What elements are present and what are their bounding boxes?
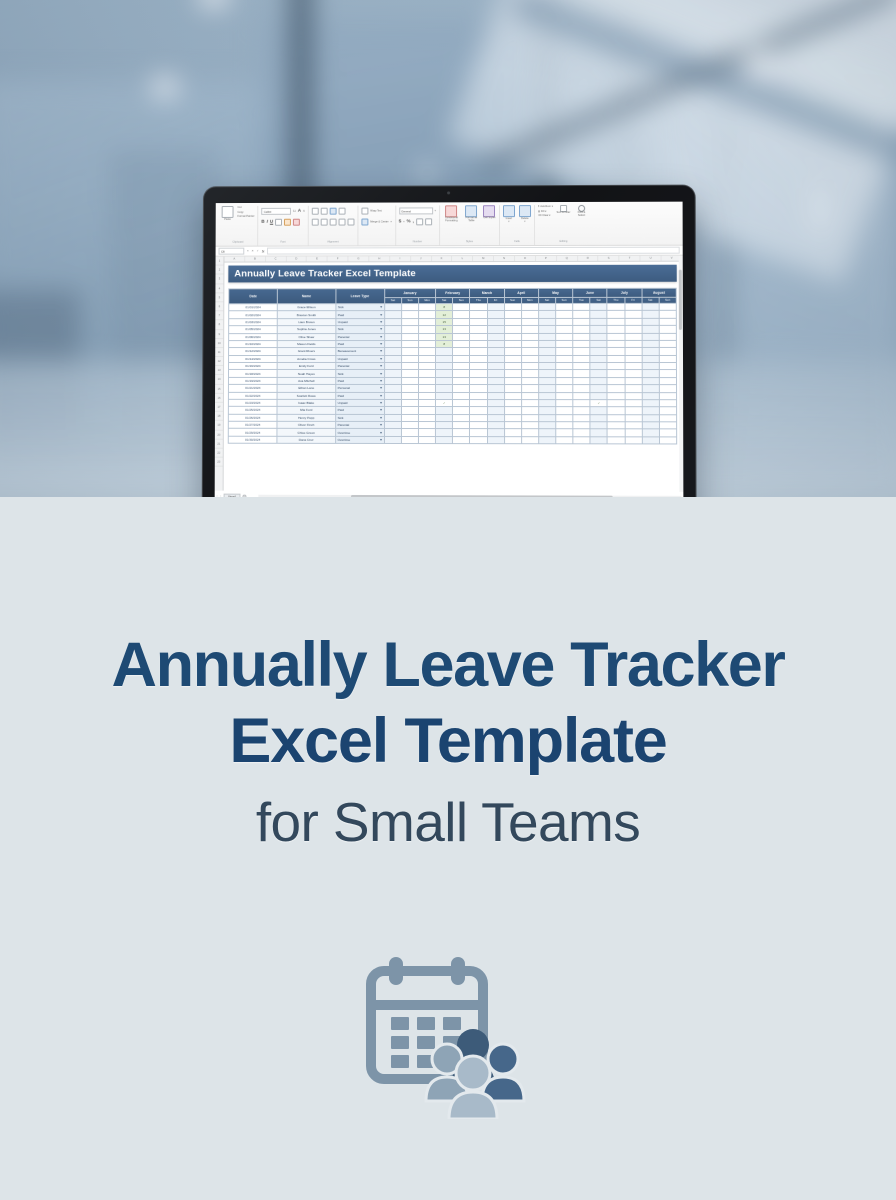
cell-day[interactable] [590, 355, 607, 362]
cell-day[interactable] [521, 399, 538, 406]
cell-day[interactable] [504, 355, 521, 362]
row-header-cell[interactable]: 13 [215, 366, 223, 375]
cell-day[interactable] [625, 355, 642, 362]
table-row[interactable]: 01/16/2024Emily FordParental [229, 362, 677, 369]
cell-day[interactable] [401, 326, 418, 333]
cell-day[interactable] [607, 414, 624, 421]
cell-day[interactable] [504, 392, 521, 399]
cell-leave-type[interactable]: Overtime [335, 436, 384, 443]
cell-day[interactable] [453, 326, 470, 333]
cell-day[interactable] [607, 326, 624, 333]
cell-day[interactable] [470, 304, 487, 311]
cell-day[interactable] [625, 429, 642, 436]
cell-leave-type[interactable]: Parental [335, 362, 384, 369]
cell-day[interactable] [487, 363, 504, 370]
cell-day[interactable] [521, 429, 538, 436]
cell-day[interactable] [453, 355, 470, 362]
cell-day[interactable] [556, 414, 573, 421]
cell-date[interactable]: 01/16/2024 [229, 362, 278, 369]
cell-day[interactable] [590, 407, 607, 414]
cell-name[interactable]: Chloe Green [277, 429, 335, 436]
column-header-cell[interactable]: R [578, 256, 599, 261]
cell-day[interactable] [487, 414, 504, 421]
cell-day[interactable] [556, 355, 573, 362]
cell-day[interactable] [590, 303, 607, 310]
cell-day[interactable] [556, 407, 573, 414]
cell-day[interactable] [470, 429, 487, 436]
cell-day[interactable] [487, 355, 504, 362]
align-center-icon[interactable] [321, 219, 328, 226]
cell-day[interactable] [590, 363, 607, 370]
cell-day[interactable] [384, 348, 401, 355]
middle-align-icon[interactable] [321, 208, 328, 215]
column-header-cell[interactable]: O [515, 256, 536, 261]
cell-day[interactable] [659, 385, 676, 392]
cell-day[interactable] [384, 392, 401, 399]
cell-day[interactable] [556, 399, 573, 406]
cell-day[interactable] [659, 311, 676, 318]
cell-day[interactable] [504, 407, 521, 414]
cell-leave-type[interactable]: Paid [335, 340, 384, 347]
insert-function-icon[interactable]: fx [262, 249, 265, 253]
cell-day[interactable] [521, 377, 538, 384]
cell-day[interactable] [401, 362, 418, 369]
cell-day[interactable] [607, 348, 624, 355]
cell-day[interactable] [556, 318, 573, 325]
cell-day[interactable] [504, 436, 521, 443]
cell-day[interactable] [590, 377, 607, 384]
cell-day[interactable] [504, 303, 521, 310]
cell-day[interactable] [401, 377, 418, 384]
cell-day[interactable] [642, 363, 659, 370]
cell-day[interactable] [642, 326, 659, 333]
cell-day[interactable] [590, 370, 607, 377]
cell-day[interactable] [487, 318, 504, 325]
cell-leave-type[interactable]: Sick [335, 370, 384, 377]
cell-day[interactable] [419, 362, 436, 369]
cell-name[interactable]: Dana Cruz [277, 436, 335, 443]
cell-day[interactable] [436, 422, 453, 429]
cell-day[interactable] [573, 311, 590, 318]
cell-date[interactable]: 01/06/2024 [229, 333, 278, 340]
row-header-cell[interactable]: 21 [215, 439, 223, 448]
comma-format-icon[interactable]: , [413, 220, 414, 225]
dropdown-arrow-icon[interactable] [380, 343, 382, 345]
column-header-cell[interactable]: F [328, 256, 349, 261]
cell-day[interactable] [453, 318, 470, 325]
cell-day[interactable] [607, 318, 624, 325]
dropdown-arrow-icon[interactable] [380, 328, 382, 330]
cell-day[interactable] [470, 385, 487, 392]
cell-date[interactable]: 01/25/2024 [228, 407, 277, 414]
cell-day[interactable] [539, 429, 556, 436]
cell-day[interactable] [556, 326, 573, 333]
cell-day[interactable] [607, 311, 624, 318]
cell-leave-value[interactable]: 15 [436, 318, 453, 325]
cell-day[interactable] [659, 370, 676, 377]
cell-date[interactable]: 01/18/2024 [228, 370, 277, 377]
cell-day[interactable] [539, 385, 556, 392]
cell-day[interactable] [642, 355, 659, 362]
cell-day[interactable] [607, 392, 624, 399]
cell-leave-value[interactable]: ✓ [590, 400, 607, 407]
row-header-cell[interactable]: 6 [215, 302, 223, 311]
dropdown-arrow-icon[interactable] [380, 387, 382, 389]
cell-day[interactable] [401, 421, 418, 428]
cell-day[interactable] [624, 303, 641, 310]
cell-name[interactable]: Mia Ford [277, 407, 335, 414]
excel-ribbon[interactable]: Paste Cut Copy Format Painter Clipboard [216, 202, 683, 247]
cell-day[interactable] [659, 348, 676, 355]
row-header-cell[interactable]: 5 [215, 293, 223, 302]
cell-day[interactable] [642, 437, 659, 444]
cell-day[interactable] [504, 385, 521, 392]
cell-day[interactable] [556, 377, 573, 384]
cell-day[interactable] [401, 311, 418, 318]
fill-color-icon[interactable] [284, 219, 291, 226]
cell-day[interactable] [487, 385, 504, 392]
cell-leave-type[interactable]: Paid [335, 377, 384, 384]
cell-day[interactable] [487, 392, 504, 399]
increase-font-icon[interactable]: A [298, 209, 301, 214]
column-header-cell[interactable]: C [266, 256, 287, 261]
cell-leave-value[interactable]: 13 [436, 333, 453, 340]
cell-day[interactable] [556, 370, 573, 377]
cell-day[interactable] [539, 370, 556, 377]
cell-day[interactable] [659, 392, 676, 399]
cell-day[interactable] [521, 363, 538, 370]
cell-day[interactable] [521, 414, 538, 421]
cell-day[interactable] [401, 385, 418, 392]
dropdown-arrow-icon[interactable] [380, 409, 382, 411]
cell-day[interactable] [384, 436, 401, 443]
cell-day[interactable] [659, 422, 676, 429]
dropdown-arrow-icon[interactable] [380, 432, 382, 434]
cell-day[interactable] [625, 400, 642, 407]
cell-day[interactable] [659, 355, 676, 362]
row-header-cell[interactable]: 4 [215, 284, 223, 293]
cell-day[interactable] [642, 392, 659, 399]
cell-day[interactable] [384, 385, 401, 392]
cell-leave-value[interactable]: 12 [436, 311, 453, 318]
cell-day[interactable] [539, 363, 556, 370]
cell-day[interactable] [453, 340, 470, 347]
cell-leave-type[interactable]: Paid [335, 407, 384, 414]
cell-day[interactable] [419, 304, 436, 311]
cell-day[interactable] [470, 318, 487, 325]
cell-day[interactable] [539, 392, 556, 399]
cell-day[interactable] [539, 348, 556, 355]
cell-leave-type[interactable]: Unpaid [335, 399, 384, 406]
cell-day[interactable] [453, 407, 470, 414]
cell-day[interactable] [625, 340, 642, 347]
column-header-cell[interactable]: S [599, 256, 620, 261]
cell-date[interactable]: 01/26/2024 [228, 414, 277, 421]
cell-day[interactable] [401, 399, 418, 406]
cell-day[interactable] [418, 422, 435, 429]
cell-day[interactable] [401, 414, 418, 421]
cell-day[interactable] [556, 422, 573, 429]
cell-day[interactable] [521, 340, 538, 347]
cell-day[interactable] [539, 377, 556, 384]
cell-day[interactable] [556, 333, 573, 340]
cell-name[interactable]: Amelia Cross [277, 355, 335, 362]
cell-day[interactable] [659, 414, 676, 421]
cell-day[interactable] [487, 348, 504, 355]
cell-day[interactable] [470, 326, 487, 333]
cell-day[interactable] [487, 399, 504, 406]
cell-day[interactable] [573, 333, 590, 340]
dropdown-arrow-icon[interactable] [380, 395, 382, 397]
cell-leave-type[interactable]: Sick [335, 414, 384, 421]
cell-day[interactable] [607, 422, 624, 429]
cell-day[interactable] [384, 377, 401, 384]
dropdown-arrow-icon[interactable] [380, 439, 382, 441]
cell-day[interactable] [590, 348, 607, 355]
cell-day[interactable] [556, 303, 573, 310]
borders-icon[interactable] [275, 219, 282, 226]
cell-day[interactable] [642, 370, 659, 377]
cell-day[interactable] [384, 399, 401, 406]
cell-day[interactable] [625, 385, 642, 392]
cell-name[interactable]: Isaac Blake [277, 399, 335, 406]
autosum-label[interactable]: Σ AutoSum ▾ [538, 205, 553, 208]
cell-day[interactable] [539, 355, 556, 362]
cell-day[interactable] [642, 340, 659, 347]
cell-day[interactable] [642, 348, 659, 355]
copy-label[interactable]: Copy [237, 210, 254, 213]
insert-cells-icon[interactable] [503, 205, 515, 217]
cell-date[interactable]: 01/19/2024 [228, 377, 277, 384]
merge-center-icon[interactable] [361, 219, 368, 226]
orientation-icon[interactable] [339, 208, 346, 215]
cell-day[interactable] [659, 437, 676, 444]
cell-name[interactable]: Noah Hayes [277, 370, 335, 377]
italic-icon[interactable]: I [267, 220, 268, 225]
cell-day[interactable] [436, 436, 453, 443]
font-size-value[interactable]: 11 [293, 210, 296, 213]
cell-day[interactable] [384, 355, 401, 362]
column-header-cell[interactable]: J [411, 256, 432, 261]
decrease-indent-icon[interactable] [338, 219, 345, 226]
cell-day[interactable] [436, 414, 453, 421]
column-header-cell[interactable]: N [494, 256, 515, 261]
cell-day[interactable] [384, 304, 401, 311]
cell-day[interactable] [504, 318, 521, 325]
accounting-format-icon[interactable]: $ [399, 220, 402, 225]
cell-day[interactable] [521, 370, 538, 377]
cell-day[interactable] [521, 318, 538, 325]
cell-date[interactable]: 01/30/2024 [228, 436, 277, 443]
cell-day[interactable] [556, 429, 573, 436]
cell-day[interactable] [573, 377, 590, 384]
cell-day[interactable] [556, 311, 573, 318]
decrease-decimal-icon[interactable] [425, 218, 432, 225]
cell-day[interactable] [504, 422, 521, 429]
cell-day[interactable] [419, 392, 436, 399]
cell-day[interactable] [625, 407, 642, 414]
cell-day[interactable] [470, 340, 487, 347]
cell-day[interactable] [487, 311, 504, 318]
cell-day[interactable] [470, 399, 487, 406]
cell-name[interactable]: Grant Rivers [277, 348, 335, 355]
number-format-select[interactable]: General [399, 207, 433, 214]
cell-day[interactable] [539, 422, 556, 429]
cell-day[interactable] [418, 414, 435, 421]
cell-day[interactable] [504, 399, 521, 406]
cell-name[interactable]: Ava Mitchell [277, 377, 335, 384]
row-header-cell[interactable]: 19 [215, 421, 223, 430]
cell-day[interactable] [607, 333, 624, 340]
row-header-cell[interactable]: 23 [215, 458, 223, 467]
paste-icon[interactable] [222, 206, 234, 218]
cell-day[interactable] [625, 370, 642, 377]
increase-decimal-icon[interactable] [416, 218, 423, 225]
cell-name[interactable]: Olive Shaw [277, 333, 335, 340]
row-header-cell[interactable]: 16 [215, 394, 223, 403]
cell-day[interactable] [436, 362, 453, 369]
cell-day[interactable] [487, 326, 504, 333]
table-row[interactable]: 01/12/2024Grant RiversBereavement [229, 348, 677, 355]
cell-day[interactable] [419, 333, 436, 340]
row-header-cell[interactable]: 12 [215, 357, 223, 366]
cell-name[interactable]: Ethan Lane [277, 385, 335, 392]
cell-day[interactable] [590, 311, 607, 318]
cell-day[interactable] [436, 429, 453, 436]
dropdown-arrow-icon[interactable] [380, 350, 382, 352]
cell-leave-type[interactable]: Paid [335, 311, 384, 318]
row-header-cell[interactable]: 1 [216, 257, 224, 266]
cell-day[interactable] [642, 422, 659, 429]
cell-day[interactable] [504, 429, 521, 436]
cell-day[interactable] [538, 318, 555, 325]
cell-day[interactable] [436, 377, 453, 384]
cell-day[interactable] [453, 414, 470, 421]
formula-input[interactable] [267, 247, 679, 255]
dropdown-arrow-icon[interactable] [380, 306, 382, 308]
bold-icon[interactable]: B [261, 220, 264, 225]
cell-day[interactable] [539, 399, 556, 406]
cell-day[interactable] [470, 414, 487, 421]
delete-cells-icon[interactable] [519, 205, 531, 217]
cell-day[interactable] [418, 429, 435, 436]
cell-day[interactable] [538, 303, 555, 310]
cell-day[interactable] [504, 326, 521, 333]
column-header-cell[interactable]: I [390, 256, 411, 261]
cell-day[interactable] [573, 355, 590, 362]
cell-day[interactable] [419, 385, 436, 392]
cell-day[interactable] [401, 355, 418, 362]
cell-date[interactable]: 01/27/2024 [228, 421, 277, 428]
cell-day[interactable] [504, 348, 521, 355]
cell-day[interactable] [470, 355, 487, 362]
cell-day[interactable] [590, 340, 607, 347]
align-left-icon[interactable] [312, 219, 319, 226]
cell-date[interactable]: 01/12/2024 [229, 348, 278, 355]
cell-day[interactable] [504, 340, 521, 347]
cell-day[interactable] [453, 436, 470, 443]
row-header-cell[interactable]: 10 [215, 339, 223, 348]
cell-day[interactable] [625, 414, 642, 421]
cell-day[interactable] [573, 348, 590, 355]
cell-day[interactable] [418, 399, 435, 406]
cell-name[interactable]: Mason Fields [277, 340, 335, 347]
number-format-chevron-down-icon[interactable]: ▾ [435, 209, 436, 212]
cell-day[interactable] [642, 414, 659, 421]
cell-day[interactable] [659, 407, 676, 414]
top-align-icon[interactable] [312, 208, 319, 215]
cell-leave-type[interactable]: Paid [335, 392, 384, 399]
cell-day[interactable] [573, 385, 590, 392]
cell-day[interactable] [453, 362, 470, 369]
cell-day[interactable] [625, 422, 642, 429]
row-header-cell[interactable]: 8 [215, 321, 223, 330]
cell-day[interactable] [659, 377, 676, 384]
cell-day[interactable] [419, 348, 436, 355]
cell-day[interactable] [556, 363, 573, 370]
cell-day[interactable] [419, 377, 436, 384]
delete-chevron-down-icon[interactable]: ▾ [524, 220, 525, 223]
font-name-input[interactable]: Calibri [261, 208, 291, 215]
cell-day[interactable] [419, 318, 436, 325]
cell-day[interactable] [453, 422, 470, 429]
cell-day[interactable] [625, 437, 642, 444]
cell-day[interactable] [504, 333, 521, 340]
cell-day[interactable] [453, 399, 470, 406]
dropdown-arrow-icon[interactable] [380, 380, 382, 382]
cell-day[interactable] [590, 437, 607, 444]
cell-day[interactable] [607, 363, 624, 370]
cell-leave-type[interactable]: Sick [335, 326, 384, 333]
cell-day[interactable] [401, 429, 418, 436]
cell-day[interactable] [539, 340, 556, 347]
cell-day[interactable] [590, 422, 607, 429]
column-header-cell[interactable]: H [369, 256, 390, 261]
cell-day[interactable] [401, 392, 418, 399]
cell-day[interactable] [419, 340, 436, 347]
cell-day[interactable] [384, 407, 401, 414]
dropdown-arrow-icon[interactable] [380, 402, 382, 404]
cell-day[interactable] [556, 340, 573, 347]
cell-day[interactable] [659, 303, 676, 310]
cut-label[interactable]: Cut [237, 206, 254, 209]
cell-day[interactable] [538, 326, 555, 333]
cell-day[interactable] [453, 377, 470, 384]
cell-day[interactable] [521, 407, 538, 414]
cell-leave-type[interactable]: Parental [335, 333, 384, 340]
cell-day[interactable] [590, 333, 607, 340]
cell-day[interactable] [590, 318, 607, 325]
cell-day[interactable] [521, 326, 538, 333]
dropdown-arrow-icon[interactable] [380, 336, 382, 338]
percent-format-icon[interactable]: % [407, 220, 411, 225]
cell-day[interactable] [521, 385, 538, 392]
cell-day[interactable] [556, 385, 573, 392]
column-header-cell[interactable]: U [641, 256, 662, 261]
cell-date[interactable]: 01/01/2024 [229, 304, 278, 311]
cell-day[interactable] [436, 355, 453, 362]
cell-date[interactable]: 01/14/2024 [229, 355, 278, 362]
dropdown-arrow-icon[interactable] [380, 358, 382, 360]
cell-day[interactable] [659, 340, 676, 347]
cell-day[interactable] [625, 333, 642, 340]
cell-day[interactable] [401, 318, 418, 325]
cell-day[interactable] [453, 392, 470, 399]
accounting-chevron-down-icon[interactable]: ▾ [403, 220, 404, 223]
merge-chevron-down-icon[interactable]: ▾ [391, 220, 392, 223]
cell-day[interactable] [384, 333, 401, 340]
cell-day[interactable] [607, 385, 624, 392]
